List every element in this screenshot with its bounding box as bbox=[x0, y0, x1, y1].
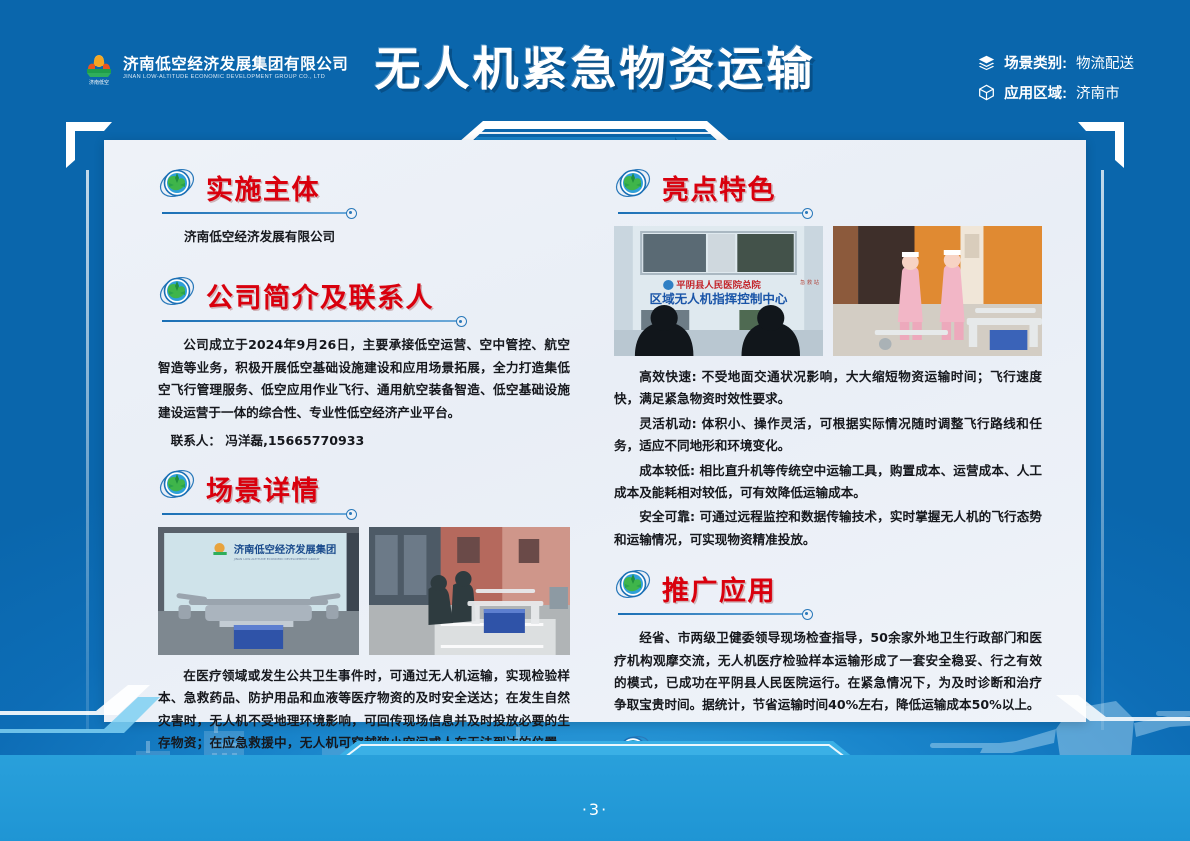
frame-line-left bbox=[86, 170, 89, 730]
command-center-photo: 平阴县人民医院总院 区域无人机指挥控制中心 bbox=[614, 226, 823, 356]
svg-text:平阴县人民医院总院: 平阴县人民医院总院 bbox=[676, 279, 761, 291]
svg-text:急 救 站: 急 救 站 bbox=[800, 279, 819, 286]
layers-icon bbox=[978, 54, 995, 71]
meta-scene-category: 场景类别: 物流配送 bbox=[978, 52, 1134, 73]
nurses-drone-photo bbox=[833, 226, 1042, 356]
section-title: 推广应用 bbox=[662, 578, 776, 605]
globe-icon bbox=[158, 465, 196, 503]
header-meta: 场景类别: 物流配送 应用区域: 济南市 bbox=[978, 52, 1134, 112]
frame-line-right bbox=[1101, 170, 1104, 730]
section-rule bbox=[158, 509, 570, 518]
highlight-photo-group: 平阴县人民医院总院 区域无人机指挥控制中心 bbox=[614, 226, 1042, 356]
right-column: 亮点特色 bbox=[604, 140, 1086, 722]
meta-region-label: 应用区域: bbox=[1004, 82, 1067, 103]
globe-icon bbox=[158, 164, 196, 202]
globe-icon bbox=[614, 565, 652, 603]
meta-scene-label: 场景类别: bbox=[1004, 52, 1067, 73]
footer-bar bbox=[0, 755, 1190, 841]
globe-icon bbox=[614, 164, 652, 202]
left-column: 实施主体 济南低空经济发展有限公司 bbox=[104, 140, 604, 722]
meta-scene-value: 物流配送 bbox=[1076, 52, 1134, 73]
section-title: 公司简介及联系人 bbox=[206, 285, 434, 312]
implementing-entity-name: 济南低空经济发展有限公司 bbox=[184, 226, 570, 248]
meta-region-value: 济南市 bbox=[1076, 82, 1120, 103]
footer-corner-left-decor bbox=[0, 685, 230, 755]
highlight-item-fast: 高效快速: 不受地面交通状况影响，大大缩短物资运输时间；飞行速度快，满足紧急物资… bbox=[614, 366, 1042, 411]
company-profile-text: 公司成立于2024年9月26日，主要承接低空运营、空中管控、航空智造等业务，积极… bbox=[158, 334, 570, 424]
svg-text:JINAN LOW-ALTITUDE ECONOMIC DE: JINAN LOW-ALTITUDE ECONOMIC DEVELOPMENT … bbox=[233, 557, 320, 561]
drone-cargo-indoor-photo: 济南低空经济发展集团 JINAN LOW-ALTITUDE ECONOMIC D… bbox=[158, 527, 359, 655]
scene-photo-group: 济南低空经济发展集团 JINAN LOW-ALTITUDE ECONOMIC D… bbox=[158, 527, 570, 655]
section-company-profile: 公司简介及联系人 公司成立于2024年9月26日，主要承接低空运营、空中管控、航… bbox=[158, 270, 570, 449]
promotion-text: 经省、市两级卫健委领导现场检查指导，50余家外地卫生行政部门和医疗机构观摩交流，… bbox=[614, 627, 1042, 717]
section-title: 场景详情 bbox=[206, 478, 320, 505]
section-title: 实施主体 bbox=[206, 177, 320, 204]
operators-drone-outdoor-photo bbox=[369, 527, 570, 655]
highlight-item-low-cost: 成本较低: 相比直升机等传统空中运输工具，购置成本、运营成本、人工成本及能耗相对… bbox=[614, 460, 1042, 505]
contact-person: 联系人： 冯洋磊,15665770933 bbox=[158, 430, 570, 449]
globe-icon bbox=[158, 272, 196, 310]
meta-region: 应用区域: 济南市 bbox=[978, 82, 1134, 103]
section-title: 亮点特色 bbox=[662, 177, 776, 204]
svg-text:区域无人机指挥控制中心: 区域无人机指挥控制中心 bbox=[650, 291, 789, 306]
poster: 济南低空 济南低空经济发展集团有限公司 JINAN LOW-ALTITUDE E… bbox=[0, 0, 1190, 841]
section-rule bbox=[614, 609, 1042, 618]
section-highlights: 亮点特色 bbox=[614, 162, 1042, 551]
cube-icon bbox=[978, 84, 995, 101]
section-rule bbox=[158, 316, 570, 325]
page-number: ·3· bbox=[0, 800, 1190, 819]
content-panel: 实施主体 济南低空经济发展有限公司 bbox=[104, 140, 1086, 722]
section-rule bbox=[158, 208, 570, 217]
svg-text:济南低空经济发展集团: 济南低空经济发展集团 bbox=[234, 543, 336, 556]
section-implementing-entity: 实施主体 济南低空经济发展有限公司 bbox=[158, 162, 570, 248]
highlight-item-safe: 安全可靠: 可通过远程监控和数据传输技术，实时掌握无人机的飞行态势和运输情况，可… bbox=[614, 506, 1042, 551]
section-rule bbox=[614, 208, 1042, 217]
section-promotion: 推广应用 经省、市两级卫健委领导现场检查指导，50余家外地卫生行政部门和医疗机构… bbox=[614, 563, 1042, 717]
footer-corner-right-decor bbox=[1010, 695, 1190, 755]
highlight-item-flexible: 灵活机动: 体积小、操作灵活，可根据实际情况随时调整飞行路线和任务，适应不同地形… bbox=[614, 413, 1042, 458]
